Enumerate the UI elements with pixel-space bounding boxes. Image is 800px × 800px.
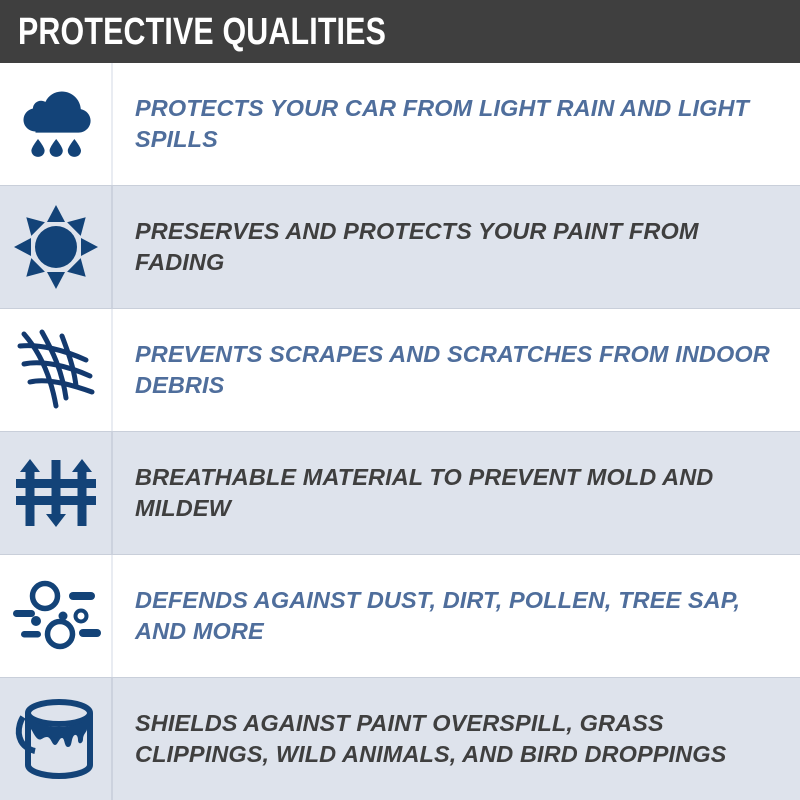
- feature-row-paint: Shields against paint overspill, grass c…: [0, 677, 800, 800]
- text-cell: Protects your car from light rain and li…: [113, 63, 800, 185]
- rain-cloud-icon: [13, 81, 99, 167]
- text-cell: Preserves and protects your paint from f…: [113, 186, 800, 308]
- feature-text: Prevents scrapes and scratches from indo…: [135, 339, 775, 401]
- feature-text: Protects your car from light rain and li…: [135, 93, 775, 155]
- sun-icon: [12, 203, 100, 291]
- breathable-arrows-icon: [12, 449, 100, 537]
- icon-cell: [0, 186, 113, 308]
- icon-cell: [0, 555, 113, 677]
- text-cell: Shields against paint overspill, grass c…: [113, 678, 800, 800]
- text-cell: Breathable material to prevent mold and …: [113, 432, 800, 554]
- icon-cell: [0, 678, 113, 800]
- icon-cell: [0, 309, 113, 431]
- feature-row-sun: Preserves and protects your paint from f…: [0, 185, 800, 308]
- icon-cell: [0, 432, 113, 554]
- text-cell: Prevents scrapes and scratches from indo…: [113, 309, 800, 431]
- feature-row-breathable: Breathable material to prevent mold and …: [0, 431, 800, 554]
- feature-row-dust: Defends against dust, dirt, pollen, tree…: [0, 554, 800, 677]
- dust-particles-icon: [11, 576, 101, 656]
- icon-cell: [0, 63, 113, 185]
- header-bar: Protective Qualities: [0, 0, 800, 63]
- scratch-mesh-icon: [12, 326, 100, 414]
- feature-rows: Protects your car from light rain and li…: [0, 63, 800, 800]
- feature-text: Preserves and protects your paint from f…: [135, 216, 775, 278]
- paint-can-icon: [13, 695, 99, 783]
- feature-text: Shields against paint overspill, grass c…: [135, 708, 775, 770]
- page-title: Protective Qualities: [18, 13, 386, 51]
- protective-qualities-infographic: Protective Qualities Protects your car f…: [0, 0, 800, 800]
- feature-text: Defends against dust, dirt, pollen, tree…: [135, 585, 775, 647]
- feature-row-rain: Protects your car from light rain and li…: [0, 63, 800, 185]
- text-cell: Defends against dust, dirt, pollen, tree…: [113, 555, 800, 677]
- feature-row-scratches: Prevents scrapes and scratches from indo…: [0, 308, 800, 431]
- feature-text: Breathable material to prevent mold and …: [135, 462, 775, 524]
